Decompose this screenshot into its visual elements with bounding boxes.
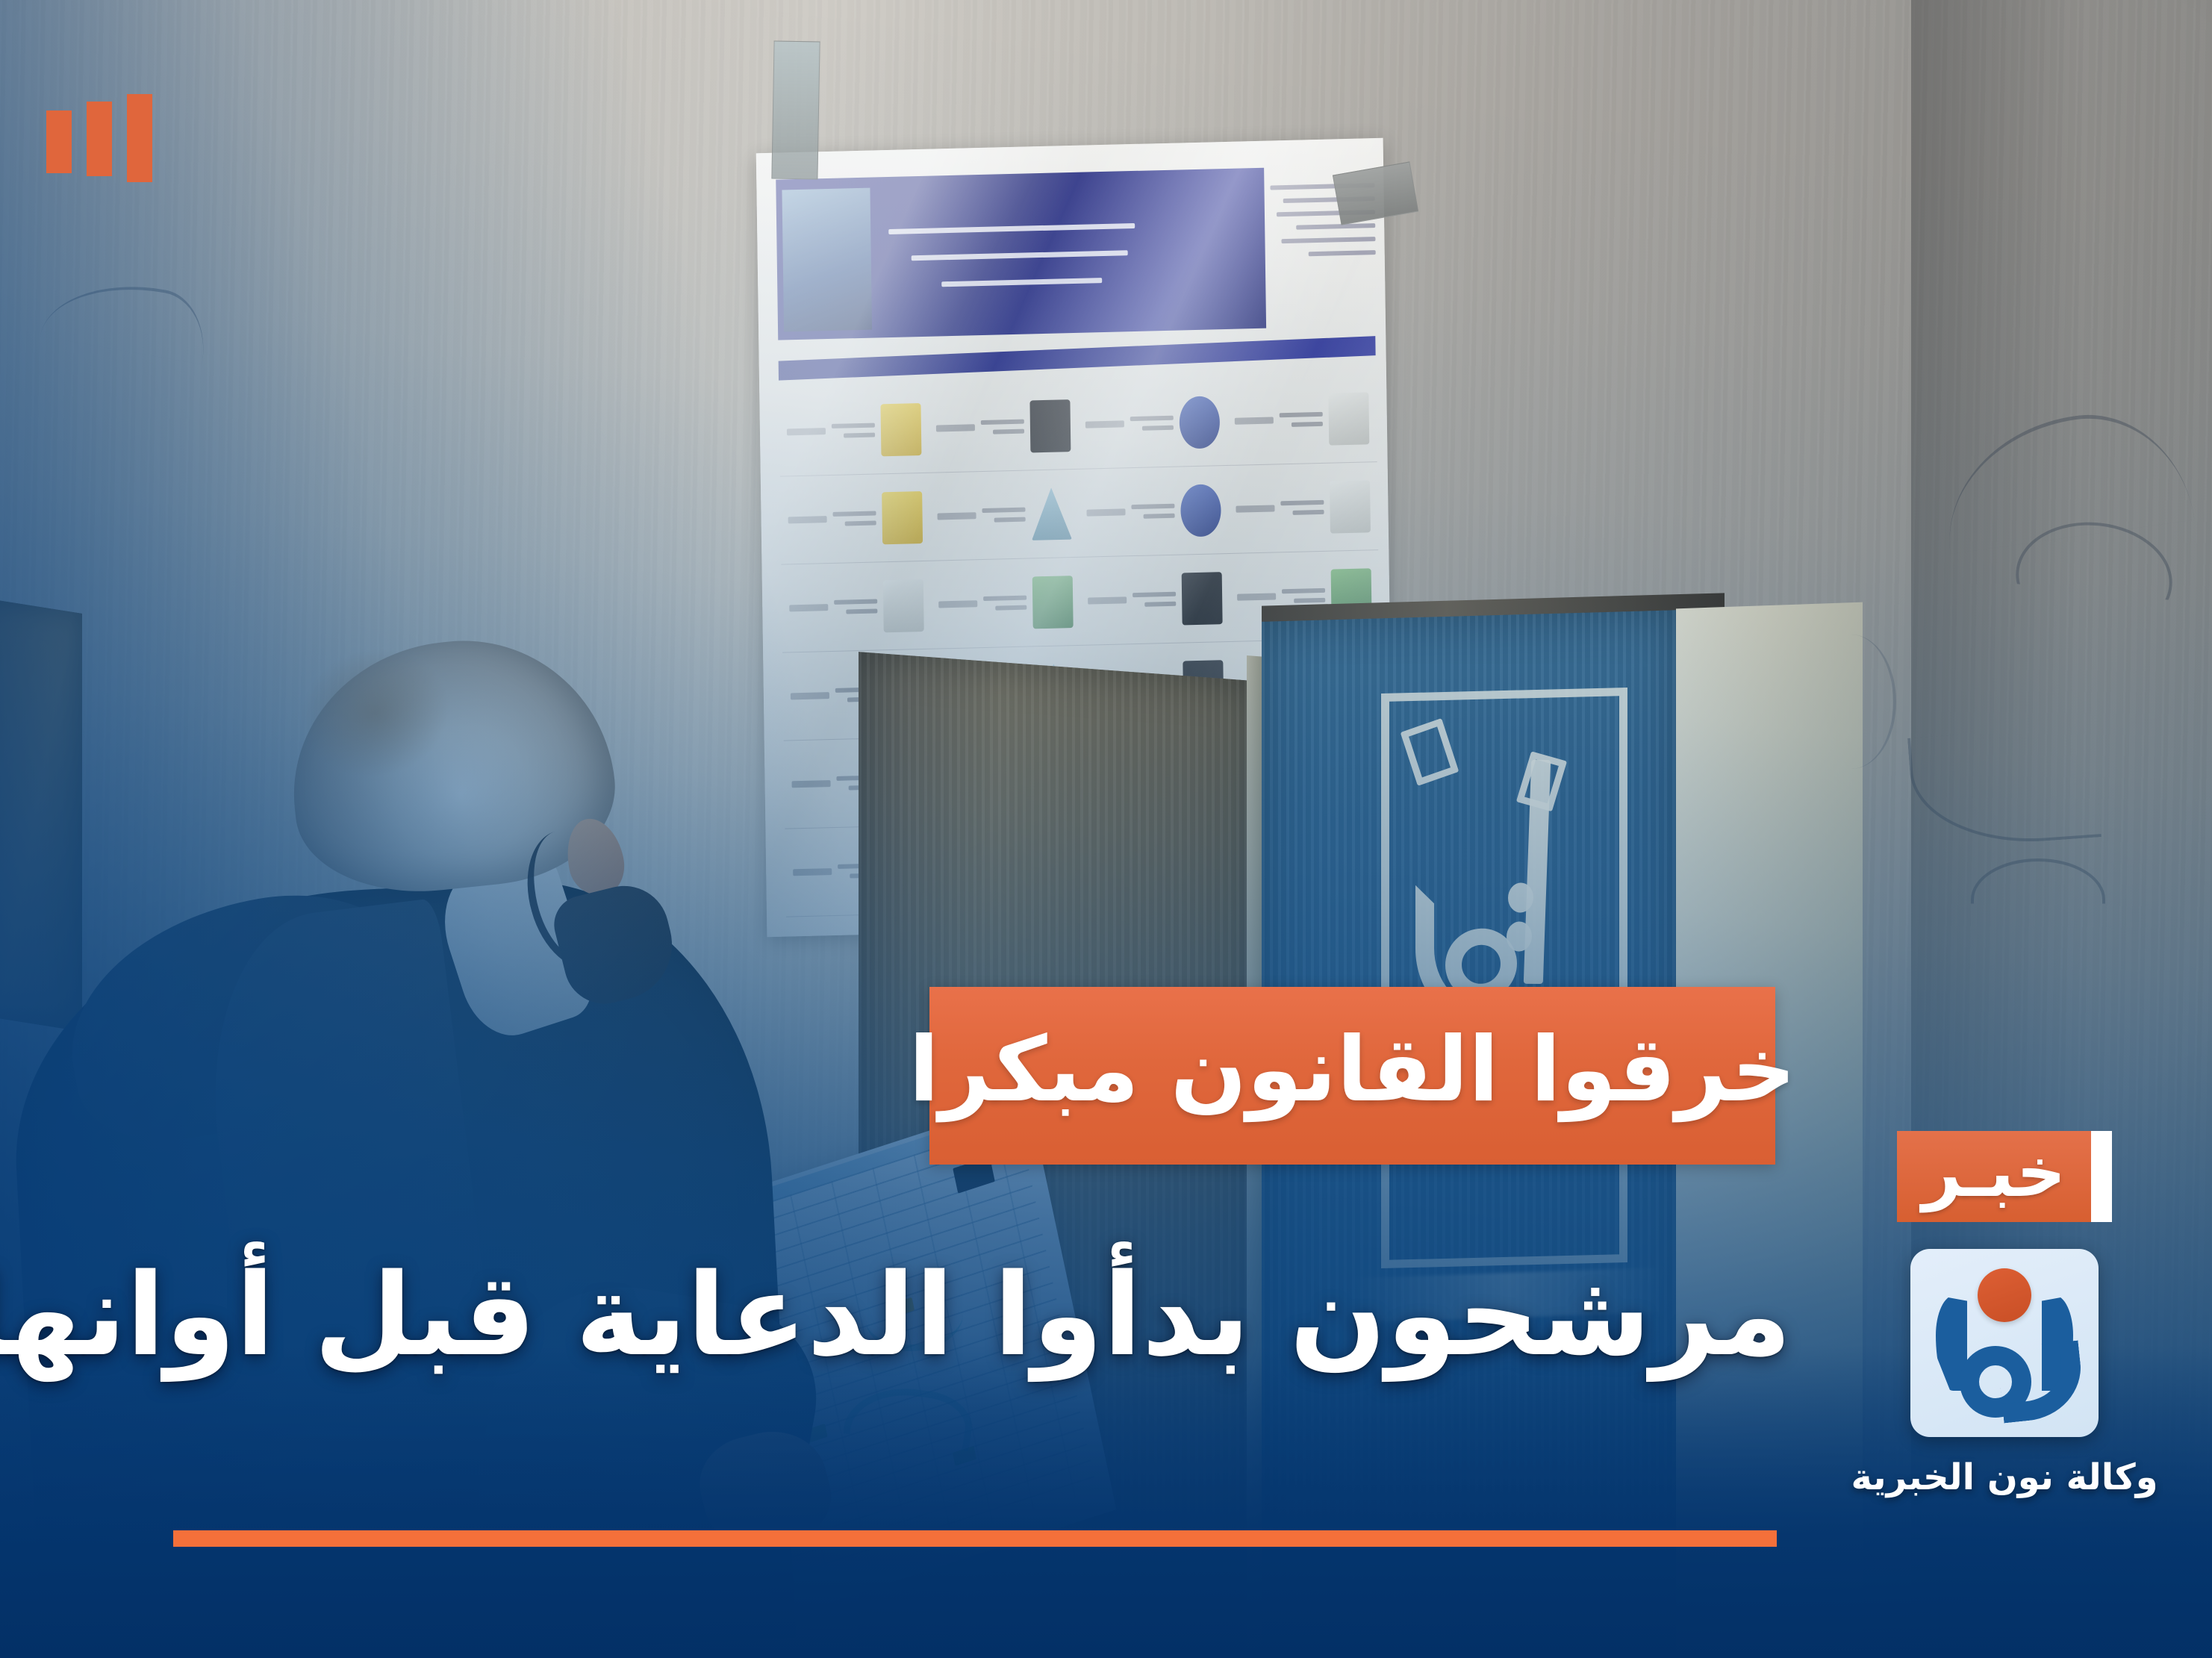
three-orange-bars (46, 94, 152, 182)
noon-agency-logo-icon (1910, 1249, 2099, 1437)
orange-circle-icon (1978, 1268, 2031, 1322)
news-badge-row: خبـر (1848, 1131, 2161, 1222)
orange-bar-1 (127, 94, 152, 182)
news-card: خرقوا القانون مبكرا مرشحون بدأوا الدعاية… (0, 0, 2212, 1658)
headline-text: مرشحون بدأوا الدعاية قبل أوانها (149, 1254, 1792, 1377)
orange-bar-3 (46, 110, 72, 173)
badge-white-accent-bar (2091, 1131, 2112, 1222)
news-badge-label: خبـر (1922, 1138, 2066, 1215)
orange-bar-2 (87, 102, 112, 176)
brand-block: خبـر وكالة نون الخبرية (1848, 1131, 2161, 1500)
kicker-badge: خرقوا القانون مبكرا (929, 987, 1775, 1165)
noon-tail-icon (1996, 1341, 2086, 1424)
orange-divider-rule (173, 1530, 1777, 1547)
kicker-text: خرقوا القانون مبكرا (909, 1026, 1796, 1126)
page-title: مرشحون بدأوا الدعاية قبل أوانها (149, 1254, 1792, 1377)
agency-name: وكالة نون الخبرية (1848, 1456, 2161, 1500)
news-badge: خبـر (1897, 1131, 2092, 1222)
